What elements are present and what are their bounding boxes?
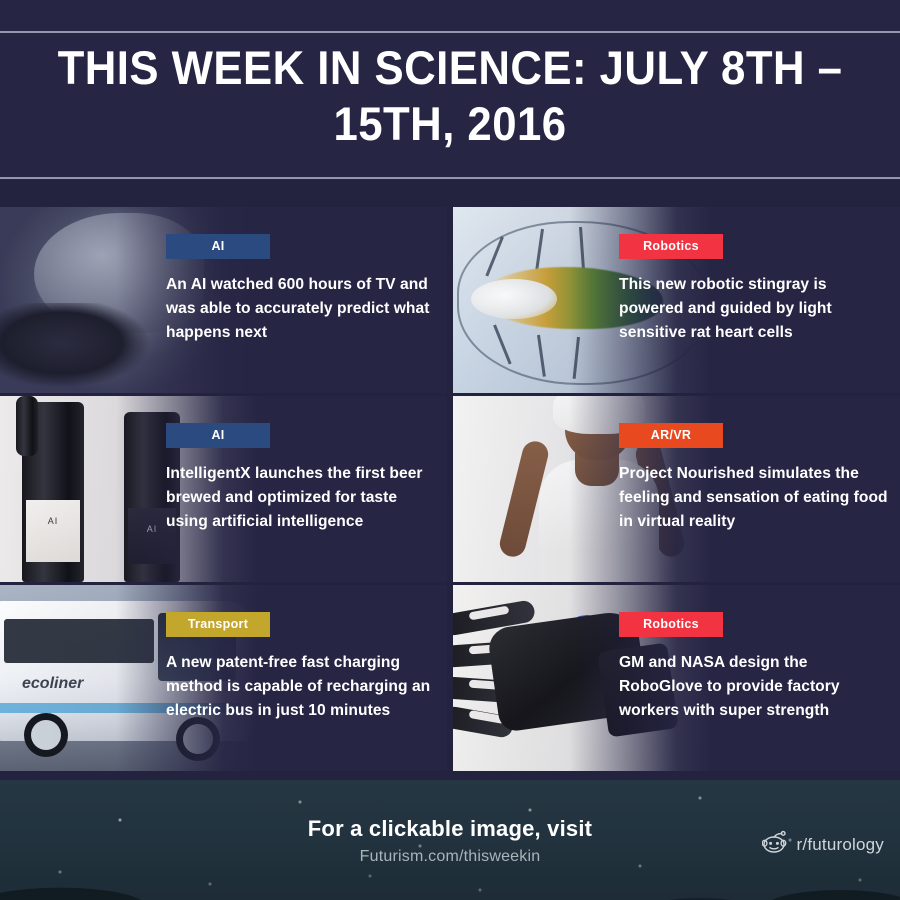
news-card-body: AR/VR Project Nourished simulates the fe… [619,423,891,534]
news-card-body: Robotics This new robotic stingray is po… [619,234,891,345]
news-card-body: Transport A new patent-free fast chargin… [166,612,438,723]
category-badge-arvr[interactable]: AR/VR [619,423,723,448]
news-card-body: AI An AI watched 600 hours of TV and was… [166,234,438,345]
infographic-page: THIS WEEK IN SCIENCE: JULY 8TH – 15TH, 2… [0,0,900,900]
news-headline: IntelligentX launches the first beer bre… [166,462,438,534]
news-card-roboglove[interactable]: Robotics GM and NASA design the RoboGlov… [453,585,900,771]
news-headline: This new robotic stingray is powered and… [619,273,891,345]
news-grid: AI An AI watched 600 hours of TV and was… [0,207,900,779]
news-card-electric-bus[interactable]: ecoliner Transport A new patent-free fas… [0,585,447,771]
news-card-project-nourished[interactable]: AR/VR Project Nourished simulates the fe… [453,396,900,582]
news-headline: A new patent-free fast charging method i… [166,651,438,723]
header-divider-bottom [0,177,900,179]
reddit-attribution[interactable]: r/futurology [762,830,884,859]
footer-banner: For a clickable image, visit Futurism.co… [0,780,900,900]
header-divider-top [0,31,900,33]
news-headline: An AI watched 600 hours of TV and was ab… [166,273,438,345]
category-badge-robotics[interactable]: Robotics [619,234,723,259]
news-card-body: Robotics GM and NASA design the RoboGlov… [619,612,891,723]
category-badge-ai[interactable]: AI [166,423,270,448]
category-badge-ai[interactable]: AI [166,234,270,259]
news-headline: Project Nourished simulates the feeling … [619,462,891,534]
news-card-ai-beer[interactable]: AI AI AI IntelligentX launches the first… [0,396,447,582]
header-banner: THIS WEEK IN SCIENCE: JULY 8TH – 15TH, 2… [0,0,900,180]
reddit-handle: r/futurology [797,835,884,855]
treeline-silhouette [0,866,900,900]
news-card-body: AI IntelligentX launches the first beer … [166,423,438,534]
page-title: THIS WEEK IN SCIENCE: JULY 8TH – 15TH, 2… [32,40,869,152]
reddit-alien-icon [762,830,788,859]
category-badge-robotics[interactable]: Robotics [619,612,723,637]
news-card-ai-tv[interactable]: AI An AI watched 600 hours of TV and was… [0,207,447,393]
category-badge-transport[interactable]: Transport [166,612,270,637]
news-headline: GM and NASA design the RoboGlove to prov… [619,651,891,723]
news-card-robotic-stingray[interactable]: Robotics This new robotic stingray is po… [453,207,900,393]
